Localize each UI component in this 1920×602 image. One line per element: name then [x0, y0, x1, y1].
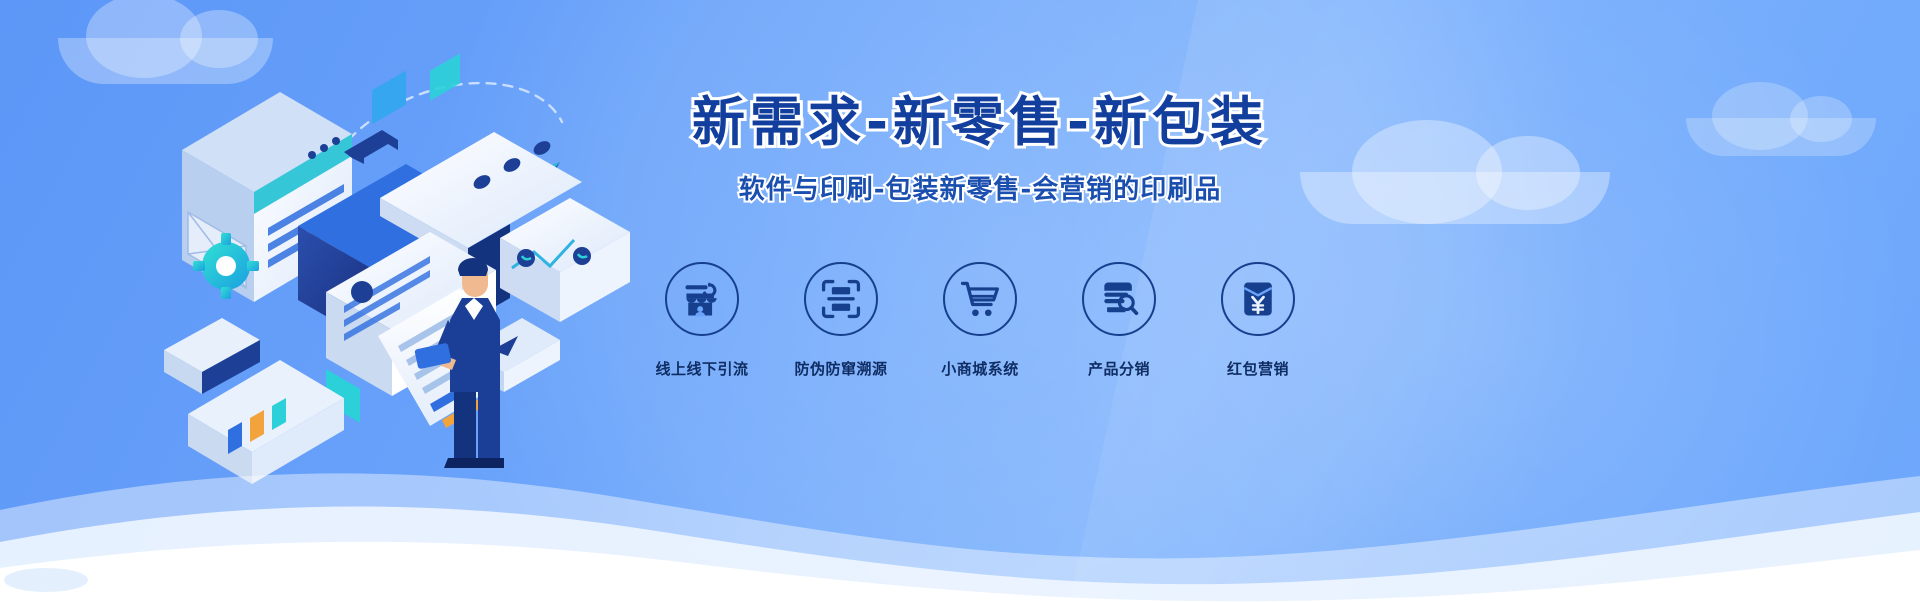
- cloud-right-small: [1686, 118, 1876, 156]
- feature-label: 红包营销: [1227, 358, 1289, 379]
- barcode-scan-icon: [819, 277, 863, 321]
- promo-banner: 新需求-新零售-新包装 软件与印刷-包装新零售-会营销的印刷品 线上线下引流: [0, 0, 1920, 602]
- feature-item-mini-mall[interactable]: 小商城系统: [918, 262, 1042, 379]
- storefront-icon: [680, 277, 724, 321]
- text-block: 新需求-新零售-新包装 软件与印刷-包装新零售-会营销的印刷品: [640, 96, 1320, 203]
- feature-label: 小商城系统: [941, 358, 1019, 379]
- feature-label: 线上线下引流: [655, 358, 748, 379]
- feature-icon-circle: [1221, 262, 1295, 336]
- feature-label: 产品分销: [1088, 358, 1150, 379]
- feature-item-online-offline[interactable]: 线上线下引流: [640, 262, 764, 379]
- feature-icon-circle: [665, 262, 739, 336]
- feature-item-red-envelope[interactable]: 红包营销: [1196, 262, 1320, 379]
- shopping-cart-icon: [958, 277, 1002, 321]
- red-envelope-yuan-icon: [1236, 277, 1280, 321]
- banner-title: 新需求-新零售-新包装: [640, 96, 1320, 149]
- feature-icon-circle: [943, 262, 1017, 336]
- list-search-icon: [1097, 277, 1141, 321]
- banner-subtitle: 软件与印刷-包装新零售-会营销的印刷品: [640, 177, 1320, 203]
- feature-icon-circle: [1082, 262, 1156, 336]
- cloud-right-large: [1300, 172, 1610, 224]
- feature-list: 线上线下引流 防伪防窜溯源: [640, 262, 1320, 379]
- feature-label: 防伪防窜溯源: [794, 358, 887, 379]
- wave-decoration: [0, 392, 1920, 602]
- feature-icon-circle: [804, 262, 878, 336]
- feature-item-distribution[interactable]: 产品分销: [1057, 262, 1181, 379]
- feature-item-anti-counterfeit[interactable]: 防伪防窜溯源: [779, 262, 903, 379]
